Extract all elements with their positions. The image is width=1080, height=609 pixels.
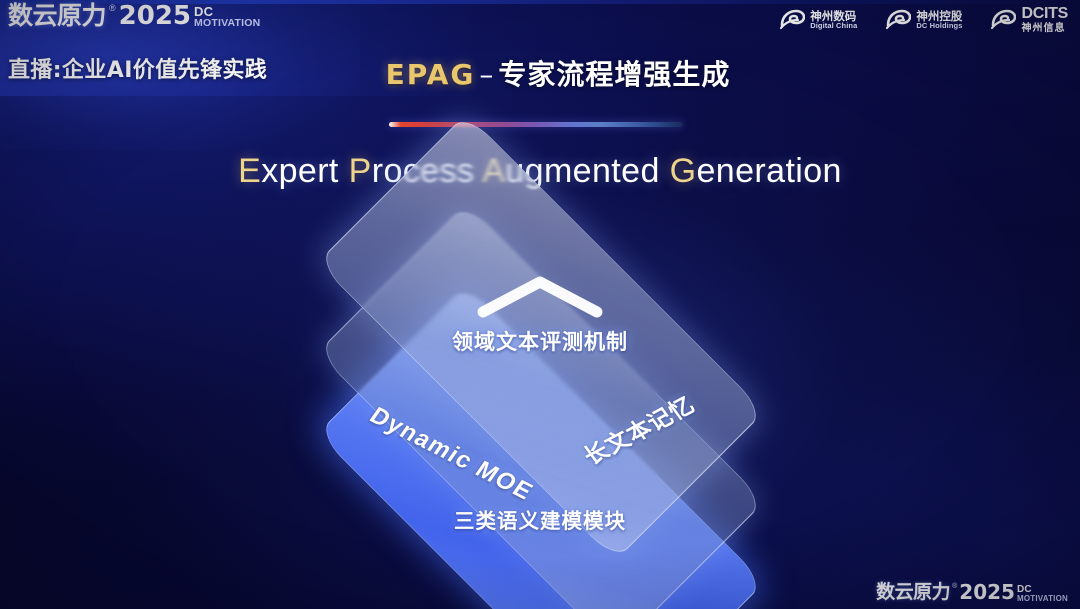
watermark-registered-mark: ® [952, 582, 957, 591]
swirl-logo-icon [990, 9, 1016, 31]
watermark-dc-motivation: DC MOTIVATION [1017, 582, 1068, 603]
brand-motivation-label: MOTIVATION [194, 18, 260, 29]
subtitle-rest-generation: eneration [696, 152, 841, 190]
partner-name-en: Digital China [810, 22, 857, 30]
title-divider [389, 122, 683, 127]
partner-logo-dcits: DCITS 神州信息 [990, 6, 1068, 34]
slide-canvas: 数云原力 ® 2025 DC MOTIVATION 直播:企业AI价值先锋实践 … [0, 0, 1080, 609]
swirl-logo-icon [779, 9, 805, 31]
layered-architecture-diagram: 领域文本评测机制 Dynamic MOE 长文本记忆 三类语义建模模块 [0, 222, 1080, 562]
brand-dc-motivation: DC MOTIVATION [194, 2, 260, 29]
partner-name-cn: 神州信息 [1021, 23, 1068, 35]
chevron-up-icon [475, 274, 605, 320]
partner-name-en: DCITS [1021, 6, 1068, 23]
watermark-name-cn: 数云原力 [876, 582, 950, 603]
partner-logo-text: 神州数码 Digital China [810, 10, 857, 30]
subtitle-cap-e: E [238, 152, 261, 190]
partner-logo-dc-holdings: 神州控股 DC Holdings [885, 9, 962, 31]
subtitle-cap-g: G [670, 152, 697, 190]
partner-logo-text: 神州控股 DC Holdings [916, 10, 962, 30]
partner-logo-digital-china: 神州数码 Digital China [779, 9, 857, 31]
title-chinese: 专家流程增强生成 [498, 58, 730, 91]
subtitle-cap-p: P [349, 152, 372, 190]
partner-logo-row: 神州数码 Digital China 神州控股 DC Holdings [779, 6, 1068, 34]
title-dash: – [475, 58, 498, 91]
subtitle: Expert Process Augmented Generation [0, 152, 1080, 191]
diagram-label-top: 领域文本评测机制 [0, 326, 1080, 356]
brand-name-cn: 数云原力 [8, 2, 106, 30]
swirl-logo-icon [885, 9, 911, 31]
watermark-motivation-label: MOTIVATION [1017, 595, 1068, 603]
partner-name-en: DC Holdings [916, 22, 962, 30]
title-acronym: EPAG [386, 58, 476, 91]
partner-logo-text: DCITS 神州信息 [1021, 6, 1068, 34]
subtitle-rest-expert: xpert [261, 152, 339, 190]
brand-registered-mark: ® [109, 2, 116, 14]
watermark-year: 2025 [959, 582, 1015, 603]
brand-logo: 数云原力 ® 2025 DC MOTIVATION [8, 2, 260, 30]
footer-watermark: 数云原力 ® 2025 DC MOTIVATION [876, 582, 1068, 603]
diagram-label-bottom: 三类语义建模模块 [0, 504, 1080, 534]
brand-year: 2025 [119, 2, 191, 30]
page-title: EPAG–专家流程增强生成 [0, 53, 1080, 93]
